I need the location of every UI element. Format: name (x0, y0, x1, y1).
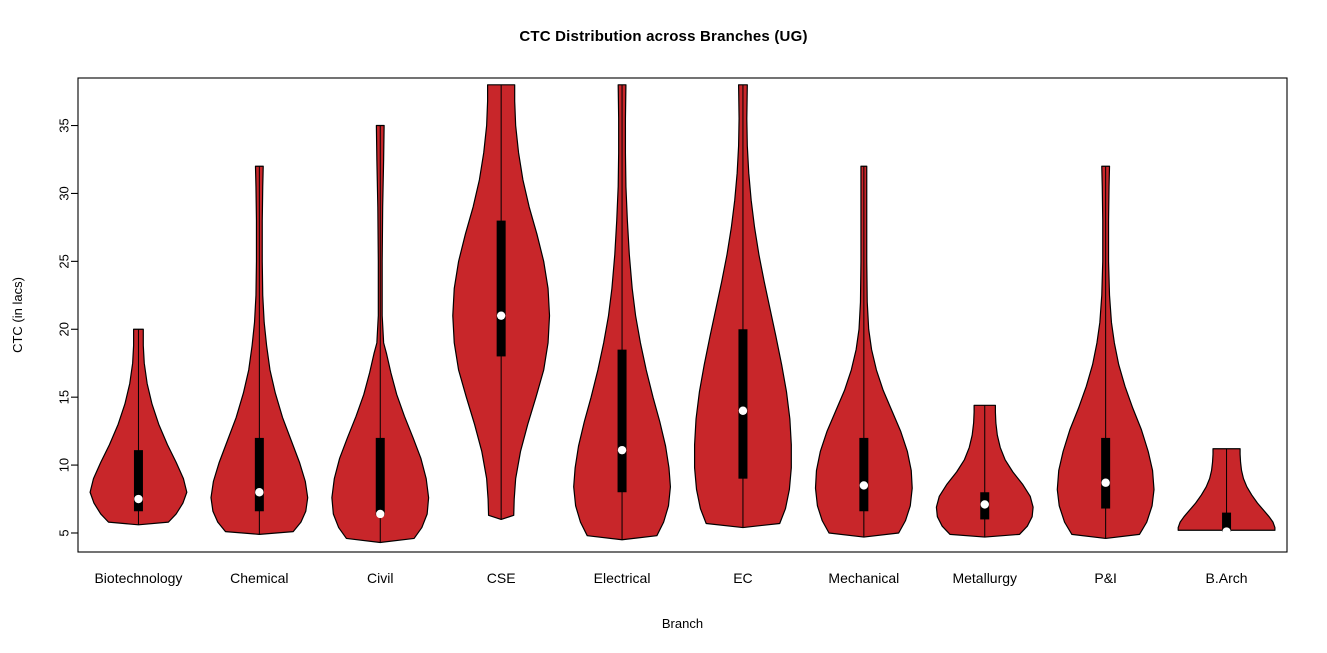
y-tick-label: 20 (56, 322, 71, 336)
violin-group (211, 166, 308, 534)
violin-group (695, 85, 792, 528)
violin-iqr-box (738, 329, 747, 478)
violin-iqr-box (1101, 438, 1110, 509)
violin-median-point (497, 311, 505, 319)
x-category-label: B.Arch (1206, 570, 1248, 586)
violin-iqr-box (618, 350, 627, 493)
violin-median-point (860, 481, 868, 489)
x-category-label: Electrical (594, 570, 651, 586)
violin-group (90, 329, 187, 525)
y-tick-label: 30 (56, 186, 71, 200)
x-category-label: EC (733, 570, 752, 586)
violin-median-point (255, 488, 263, 496)
violin-median-point (618, 446, 626, 454)
x-category-label: Mechanical (828, 570, 899, 586)
violin-chart: CTC Distribution across Branches (UG) 51… (0, 0, 1327, 653)
x-axis-title: Branch (662, 616, 703, 631)
y-tick-label: 35 (56, 118, 71, 132)
y-tick-label: 10 (56, 458, 71, 472)
x-category-label: Chemical (230, 570, 288, 586)
x-category-label: Civil (367, 570, 393, 586)
plot-area: 5101520253035CTC (in lacs)BranchBiotechn… (0, 0, 1327, 653)
violin-median-point (981, 500, 989, 508)
violin-group (936, 405, 1033, 537)
violin-group (1178, 449, 1275, 536)
violin-group (453, 85, 550, 520)
y-tick-label: 25 (56, 254, 71, 268)
violin-median-point (1222, 527, 1230, 535)
violin-group (1057, 166, 1154, 538)
x-category-label: P&I (1094, 570, 1117, 586)
x-category-label: Biotechnology (94, 570, 182, 586)
violin-group (332, 126, 429, 543)
violin-iqr-box (859, 438, 868, 511)
y-tick-label: 15 (56, 390, 71, 404)
violin-median-point (134, 495, 142, 503)
violin-group (574, 85, 671, 540)
y-axis-title: CTC (in lacs) (10, 277, 25, 353)
y-tick-label: 5 (56, 529, 71, 536)
violin-group (815, 166, 912, 537)
violin-iqr-box (376, 438, 385, 515)
x-category-label: Metallurgy (952, 570, 1017, 586)
violin-median-point (1101, 479, 1109, 487)
page-title: CTC Distribution across Branches (UG) (0, 28, 1327, 45)
violin-median-point (376, 510, 384, 518)
violin-iqr-box (497, 221, 506, 357)
x-category-label: CSE (487, 570, 516, 586)
violin-iqr-box (255, 438, 264, 511)
violin-median-point (739, 407, 747, 415)
